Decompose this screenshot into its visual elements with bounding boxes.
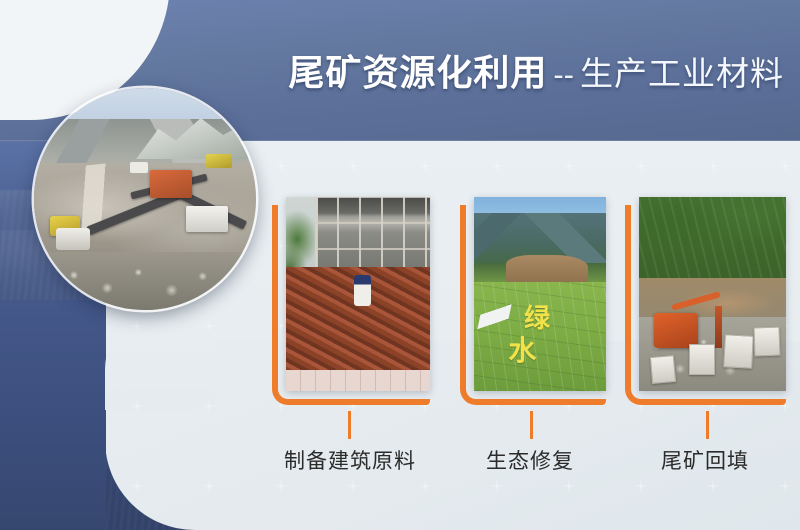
card-2-image: 绿 水 — [474, 197, 606, 391]
hero-circle-photo — [34, 88, 256, 310]
card-3-stem — [706, 411, 709, 439]
card-3-caption: 尾矿回填 — [615, 445, 795, 475]
quarry-plant-image — [34, 88, 256, 310]
card-1-stem — [348, 411, 351, 439]
secondary-crusher — [56, 228, 90, 250]
title-separator: -- — [553, 57, 574, 92]
excavator-body — [654, 313, 698, 348]
concrete-block-2 — [689, 344, 715, 375]
card-1[interactable] — [272, 205, 424, 405]
card-1-caption: 制备建筑原料 — [250, 445, 450, 475]
card-2-caption: 生态修复 — [440, 445, 620, 475]
concrete-block-3 — [723, 334, 754, 368]
card-2[interactable]: 绿 水 — [460, 205, 600, 405]
banner-title: 尾矿资源化利用--生产工业材料 — [0, 44, 800, 96]
white-van — [130, 162, 148, 173]
title-subtitle: 生产工业材料 — [580, 55, 784, 92]
card-3-image — [639, 197, 786, 391]
vegetation — [34, 252, 96, 310]
orange-post — [715, 306, 722, 349]
panel-left-mask — [0, 300, 106, 530]
tiled-floor — [286, 370, 430, 391]
forested-hillside — [639, 197, 786, 286]
title-main: 尾矿资源化利用 — [288, 52, 547, 93]
card-2-stem — [530, 411, 533, 439]
concrete-block-4 — [753, 327, 780, 357]
concrete-block-1 — [650, 355, 676, 384]
crusher-machine — [150, 170, 192, 198]
card-3[interactable] — [625, 205, 780, 405]
control-container — [186, 206, 228, 232]
dump-truck — [206, 154, 232, 168]
banner-stage: 尾矿资源化利用--生产工业材料 制备建筑原料 绿 水 生态修复 — [0, 0, 800, 530]
card-1-image — [286, 197, 430, 391]
worker-figure — [354, 275, 371, 306]
field-glyph-2: 水 — [508, 329, 536, 369]
